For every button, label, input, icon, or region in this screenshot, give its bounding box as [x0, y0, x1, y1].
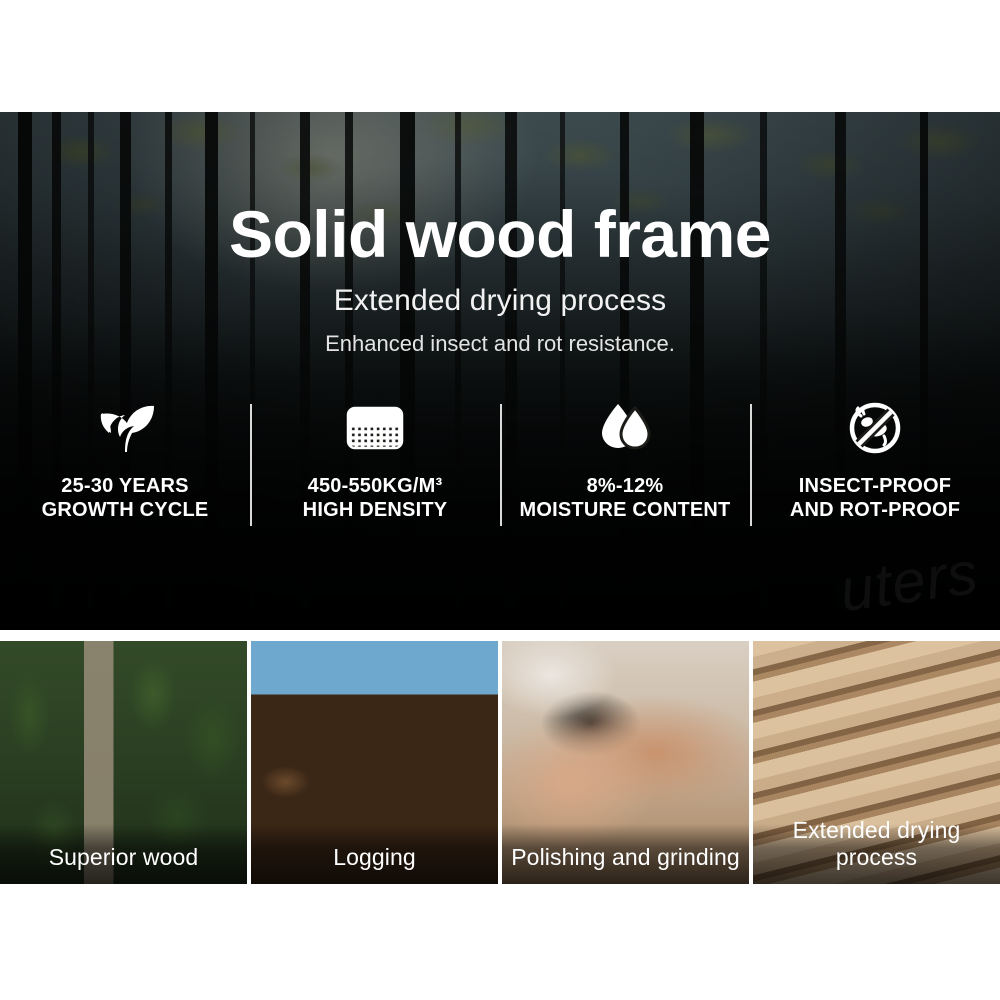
gallery-caption: Polishing and grinding: [502, 844, 749, 871]
gallery-caption: Extended drying process: [753, 817, 1000, 871]
gallery-item-extended-drying[interactable]: Extended drying process: [753, 641, 1000, 884]
gallery-item-logging[interactable]: Logging: [251, 641, 498, 884]
page-title: Solid wood frame: [0, 112, 1000, 269]
feature-item-moisture-content: 8%-12% MOISTURE CONTENT: [500, 400, 750, 523]
feature-item-insect-rot-proof: INSECT-PROOF AND ROT-PROOF: [750, 400, 1000, 523]
feature-label: 8%-12% MOISTURE CONTENT: [520, 474, 731, 523]
feature-label: 25-30 YEARS GROWTH CYCLE: [42, 474, 209, 523]
hero-text-block: Solid wood frame Extended drying process…: [0, 112, 1000, 357]
gallery-item-polishing-grinding[interactable]: Polishing and grinding: [502, 641, 749, 884]
feature-list: 25-30 YEARS GROWTH CYCLE: [0, 400, 1000, 545]
no-insect-icon: [847, 400, 903, 456]
hero-subtitle: Extended drying process: [0, 269, 1000, 318]
gallery-item-superior-wood[interactable]: Superior wood: [0, 641, 247, 884]
feature-item-high-density: 450-550KG/M³ HIGH DENSITY: [250, 400, 500, 523]
hero-banner: uters Solid wood frame Extended drying p…: [0, 112, 1000, 630]
process-gallery: Superior wood Logging Polishing and grin…: [0, 641, 1000, 884]
water-droplets-icon: [594, 400, 656, 456]
feature-item-growth-cycle: 25-30 YEARS GROWTH CYCLE: [0, 400, 250, 523]
gallery-caption: Superior wood: [0, 844, 247, 871]
leaf-sprout-icon: [94, 400, 156, 456]
feature-label: 450-550KG/M³ HIGH DENSITY: [303, 474, 448, 523]
gallery-caption: Logging: [251, 844, 498, 871]
hero-tagline: Enhanced insect and rot resistance.: [0, 318, 1000, 357]
mattress-density-icon: [344, 400, 406, 456]
feature-label: INSECT-PROOF AND ROT-PROOF: [790, 474, 960, 523]
